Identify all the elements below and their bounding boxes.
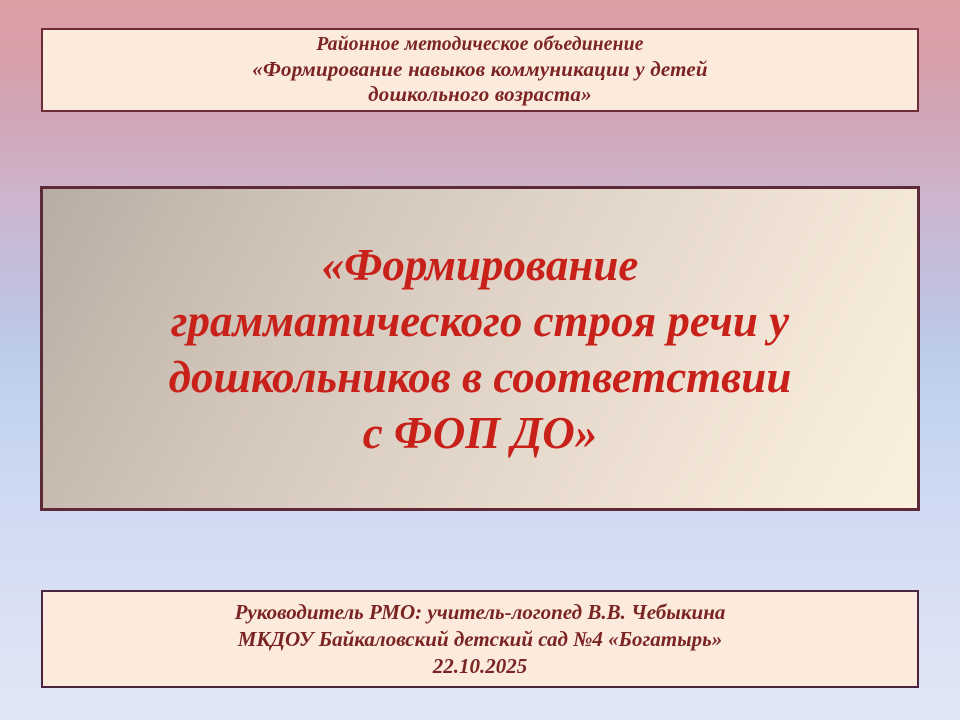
footer-line-date: 22.10.2025 [433,653,528,680]
title-line-3: дошкольников в соответствии [57,349,903,405]
footer-line-organization: МКДОУ Байкаловский детский сад №4 «Богат… [238,626,723,653]
main-title-text: «Формирование грамматического строя речи… [43,237,917,461]
footer-line-author: Руководитель РМО: учитель-логопед В.В. Ч… [235,599,726,626]
header-subtitle-box: Районное методическое объединение «Форми… [41,28,919,112]
title-line-1: «Формирование [57,237,903,293]
header-line-3: дошкольного возраста» [368,82,592,107]
presentation-slide: Районное методическое объединение «Форми… [0,0,960,720]
main-title-box: «Формирование грамматического строя речи… [40,186,920,511]
header-line-2: «Формирование навыков коммуникации у дет… [252,57,707,82]
title-line-2: грамматического строя речи у [57,293,903,349]
footer-author-box: Руководитель РМО: учитель-логопед В.В. Ч… [41,590,919,688]
title-line-4: с ФОП ДО» [57,405,903,461]
header-line-1: Районное методическое объединение [316,32,643,57]
